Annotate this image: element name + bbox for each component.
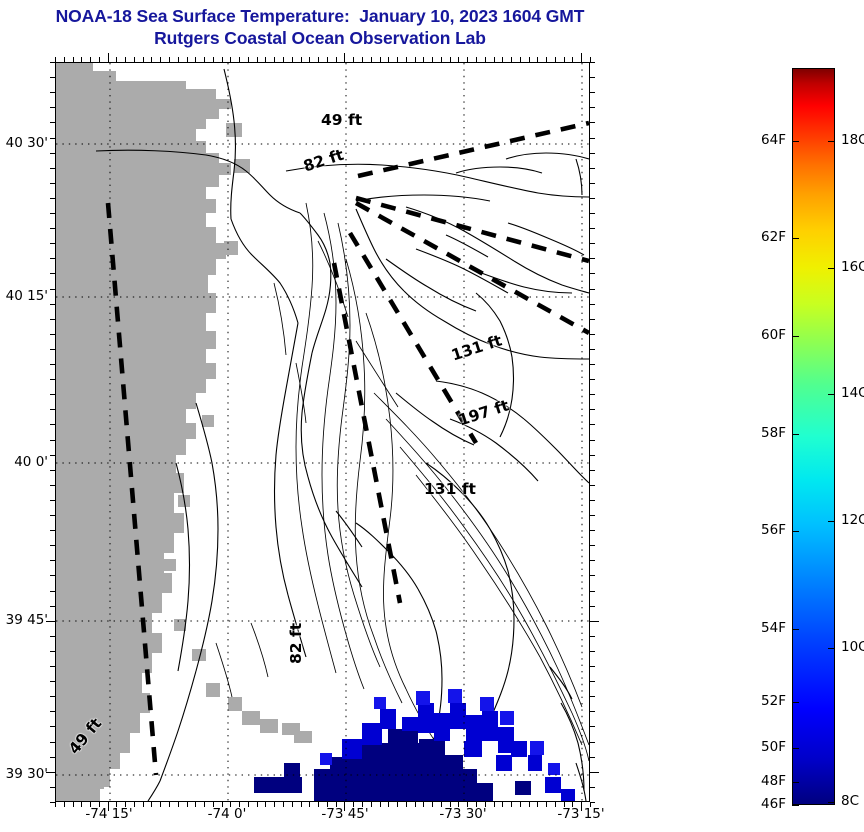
x-tick-bottom-40 xyxy=(406,802,407,807)
y-tick-left-20 xyxy=(50,364,55,365)
x-tick-bottom-31 xyxy=(327,802,328,807)
colorbar-label-c-12: 12C xyxy=(841,512,864,528)
x-tick-bottom-30 xyxy=(318,802,319,807)
y-tick-left-26 xyxy=(50,455,55,456)
x-tick-bottom-53 xyxy=(520,802,521,807)
x-tick-bottom-52 xyxy=(511,802,512,807)
y-tick-right-1 xyxy=(590,77,595,78)
x-tick-top-17 xyxy=(204,57,205,62)
y-tick-right-3 xyxy=(590,107,595,108)
x-tick-bottom-22 xyxy=(248,802,249,807)
colorbar-tick-f-58 xyxy=(792,434,799,435)
colorbar-tick-f-60 xyxy=(792,336,799,337)
x-tick-top-27 xyxy=(292,57,293,62)
y-tick-right-14 xyxy=(590,273,595,274)
title-line-2: Rutgers Coastal Ocean Observation Lab xyxy=(0,27,640,49)
y-tick-right-39 xyxy=(590,651,595,652)
y-tick-left-4 xyxy=(50,122,55,123)
y-tick-left-10 xyxy=(50,213,55,214)
x-tick-top-35 xyxy=(362,57,363,62)
colorbar-tick-f-46 xyxy=(792,805,799,806)
x-tick-bottom-19 xyxy=(222,802,223,807)
y-tick-left-15 xyxy=(50,289,55,290)
y-tick-left-6 xyxy=(50,153,55,154)
colorbar-label-f-50: 50F xyxy=(744,739,786,755)
x-tick-top-34 xyxy=(353,57,354,62)
x-tick-top-28 xyxy=(301,57,302,62)
x-tick-top-46 xyxy=(458,57,459,62)
y-tick-right-22 xyxy=(590,394,595,395)
y-tick-right-24 xyxy=(590,424,595,425)
y-tick-left-33 xyxy=(50,560,55,561)
x-tick-top-7 xyxy=(116,57,117,62)
depth-label-82ft-south: 82 ft xyxy=(287,623,305,664)
colorbar[interactable] xyxy=(792,68,835,805)
colorbar-label-f-62: 62F xyxy=(744,229,786,245)
x-tick-bottom-44 xyxy=(441,802,442,807)
y-tick-left-14 xyxy=(50,273,55,274)
x-tick-label-1: -74 0' xyxy=(196,806,258,822)
x-tick-top-56 xyxy=(546,57,547,62)
x-tick-top-60 xyxy=(581,53,582,62)
x-tick-bottom-36 xyxy=(371,802,372,807)
y-tick-left-46 xyxy=(50,757,55,758)
y-tick-right-38 xyxy=(590,636,595,637)
y-tick-left-3 xyxy=(50,107,55,108)
y-tick-right-44 xyxy=(590,726,595,727)
x-tick-bottom-15 xyxy=(187,802,188,807)
y-tick-left-48 xyxy=(50,787,55,788)
y-tick-right-20 xyxy=(590,364,595,365)
x-tick-top-0 xyxy=(55,57,56,62)
x-tick-top-29 xyxy=(309,57,310,62)
y-tick-right-43 xyxy=(590,711,595,712)
y-tick-left-35 xyxy=(50,591,55,592)
x-tick-bottom-7 xyxy=(116,802,117,807)
x-tick-top-26 xyxy=(283,57,284,62)
x-tick-bottom-8 xyxy=(125,802,126,807)
y-tick-right-41 xyxy=(590,681,595,682)
x-tick-bottom-46 xyxy=(458,802,459,807)
x-tick-bottom-59 xyxy=(572,802,573,807)
colorbar-label-f-54: 54F xyxy=(744,620,786,636)
y-tick-right-42 xyxy=(590,696,595,697)
y-tick-left-11 xyxy=(50,228,55,229)
x-tick-bottom-10 xyxy=(143,802,144,807)
title-line-1: NOAA-18 Sea Surface Temperature: January… xyxy=(0,5,640,27)
y-tick-left-16 xyxy=(50,304,55,305)
colorbar-tick-f-62 xyxy=(792,238,799,239)
y-tick-left-23 xyxy=(50,409,55,410)
x-tick-top-38 xyxy=(388,57,389,62)
y-tick-right-47 xyxy=(590,772,599,773)
x-tick-bottom-57 xyxy=(555,802,556,807)
sst-map-panel[interactable]: 49 ft 82 ft 131 ft 197 ft 131 ft 82 ft 4… xyxy=(55,62,590,802)
y-tick-left-2 xyxy=(50,92,55,93)
x-tick-top-54 xyxy=(529,57,530,62)
x-tick-top-4 xyxy=(90,57,91,62)
y-tick-left-5 xyxy=(50,138,55,139)
colorbar-label-c-14: 14C xyxy=(841,385,864,401)
y-tick-left-34 xyxy=(50,575,55,576)
y-tick-right-13 xyxy=(590,258,595,259)
y-tick-left-29 xyxy=(50,500,55,501)
y-tick-left-24 xyxy=(50,424,55,425)
colorbar-label-c-16: 16C xyxy=(841,259,864,275)
y-tick-left-49 xyxy=(50,802,55,803)
x-tick-top-41 xyxy=(415,57,416,62)
x-tick-top-25 xyxy=(274,57,275,62)
x-tick-bottom-14 xyxy=(178,802,179,807)
x-tick-top-14 xyxy=(178,57,179,62)
y-tick-left-1 xyxy=(50,77,55,78)
x-tick-top-51 xyxy=(502,57,503,62)
colorbar-label-f-48: 48F xyxy=(744,773,786,789)
x-tick-bottom-48 xyxy=(476,802,477,807)
depth-label-49ft-north: 49 ft xyxy=(321,111,362,129)
x-tick-bottom-23 xyxy=(257,802,258,807)
colorbar-tick-c-12 xyxy=(828,521,835,522)
colorbar-label-f-52: 52F xyxy=(744,693,786,709)
y-tick-right-48 xyxy=(590,787,595,788)
x-tick-bottom-41 xyxy=(415,802,416,807)
y-tick-right-15 xyxy=(590,289,595,290)
x-tick-top-48 xyxy=(476,57,477,62)
x-tick-bottom-43 xyxy=(432,802,433,807)
x-tick-top-57 xyxy=(555,57,556,62)
y-tick-left-43 xyxy=(50,711,55,712)
y-tick-left-18 xyxy=(50,334,55,335)
colorbar-tick-f-52 xyxy=(792,702,799,703)
x-tick-bottom-11 xyxy=(151,802,152,807)
x-tick-bottom-39 xyxy=(397,802,398,807)
y-tick-label-1: 40 15' xyxy=(0,288,48,304)
x-tick-bottom-24 xyxy=(265,802,266,807)
x-tick-top-39 xyxy=(397,57,398,62)
x-tick-bottom-50 xyxy=(494,802,495,807)
y-tick-label-2: 40 0' xyxy=(0,454,48,470)
colorbar-label-f-60: 60F xyxy=(744,327,786,343)
x-tick-bottom-0 xyxy=(55,802,56,807)
x-tick-top-36 xyxy=(371,57,372,62)
y-tick-right-6 xyxy=(590,153,595,154)
x-tick-bottom-25 xyxy=(274,802,275,807)
x-tick-top-16 xyxy=(195,57,196,62)
x-tick-bottom-5 xyxy=(99,802,100,807)
x-tick-bottom-45 xyxy=(450,802,451,807)
y-tick-right-21 xyxy=(590,379,595,380)
y-tick-right-27 xyxy=(590,470,595,471)
y-tick-right-12 xyxy=(590,243,595,244)
x-tick-top-11 xyxy=(151,57,152,62)
x-tick-top-15 xyxy=(187,57,188,62)
x-tick-top-44 xyxy=(441,57,442,62)
land-mask xyxy=(56,63,312,801)
x-tick-top-8 xyxy=(125,57,126,62)
y-tick-right-30 xyxy=(590,515,595,516)
y-tick-left-41 xyxy=(50,681,55,682)
x-tick-bottom-54 xyxy=(529,802,530,807)
y-tick-left-47 xyxy=(46,772,55,773)
x-tick-bottom-33 xyxy=(344,802,345,811)
x-tick-bottom-12 xyxy=(160,802,161,807)
x-tick-bottom-18 xyxy=(213,802,214,807)
x-tick-bottom-28 xyxy=(301,802,302,807)
x-tick-top-9 xyxy=(134,57,135,62)
x-tick-top-13 xyxy=(169,57,170,62)
y-tick-left-21 xyxy=(50,379,55,380)
x-tick-bottom-56 xyxy=(546,802,547,807)
x-tick-bottom-38 xyxy=(388,802,389,807)
colorbar-tick-c-8 xyxy=(828,802,835,803)
y-tick-left-40 xyxy=(50,666,55,667)
y-tick-left-38 xyxy=(50,636,55,637)
y-tick-right-31 xyxy=(590,530,595,531)
y-tick-right-37 xyxy=(590,621,599,622)
chart-title-block: NOAA-18 Sea Surface Temperature: January… xyxy=(0,5,640,49)
x-tick-top-45 xyxy=(450,57,451,62)
y-tick-left-0 xyxy=(50,62,55,63)
y-tick-right-18 xyxy=(590,334,595,335)
x-tick-top-3 xyxy=(81,57,82,62)
colorbar-tick-c-18 xyxy=(828,141,835,142)
y-tick-right-8 xyxy=(590,183,595,184)
colorbar-label-f-56: 56F xyxy=(744,522,786,538)
x-tick-bottom-27 xyxy=(292,802,293,807)
colorbar-tick-f-48 xyxy=(792,782,799,783)
x-tick-top-32 xyxy=(336,57,337,62)
x-tick-bottom-34 xyxy=(353,802,354,807)
x-tick-top-31 xyxy=(327,57,328,62)
x-tick-top-30 xyxy=(318,57,319,62)
x-tick-top-42 xyxy=(423,57,424,62)
colorbar-gradient xyxy=(792,68,835,805)
x-tick-top-19 xyxy=(222,57,223,62)
y-tick-right-10 xyxy=(590,213,595,214)
y-tick-right-16 xyxy=(590,304,595,305)
colorbar-label-f-46: 46F xyxy=(744,796,786,812)
x-tick-bottom-37 xyxy=(380,802,381,807)
x-tick-top-59 xyxy=(572,57,573,62)
x-tick-top-24 xyxy=(265,57,266,62)
colorbar-label-c-8: 8C xyxy=(841,793,859,809)
map-clip xyxy=(56,63,589,801)
y-tick-right-4 xyxy=(590,122,595,123)
x-tick-top-1 xyxy=(64,57,65,62)
x-tick-bottom-3 xyxy=(81,802,82,807)
y-tick-left-27 xyxy=(50,470,55,471)
y-tick-label-0: 40 30' xyxy=(0,135,48,151)
colorbar-tick-c-16 xyxy=(828,268,835,269)
colorbar-label-f-58: 58F xyxy=(744,425,786,441)
colorbar-label-c-18: 18C xyxy=(841,132,864,148)
x-tick-top-50 xyxy=(494,57,495,62)
y-tick-left-17 xyxy=(50,319,55,320)
y-tick-left-22 xyxy=(50,394,55,395)
x-tick-top-2 xyxy=(73,57,74,62)
x-tick-top-5 xyxy=(99,57,100,62)
y-tick-left-13 xyxy=(50,258,55,259)
y-tick-right-26 xyxy=(590,455,595,456)
y-tick-right-40 xyxy=(590,666,595,667)
y-tick-left-32 xyxy=(50,545,55,546)
y-tick-left-12 xyxy=(50,243,55,244)
x-tick-bottom-16 xyxy=(195,802,196,807)
x-tick-bottom-13 xyxy=(169,802,170,807)
x-tick-bottom-6 xyxy=(108,802,109,811)
colorbar-label-f-64: 64F xyxy=(744,132,786,148)
x-tick-bottom-26 xyxy=(283,802,284,807)
y-tick-left-37 xyxy=(46,621,55,622)
x-tick-top-12 xyxy=(160,57,161,62)
y-tick-right-23 xyxy=(590,409,595,410)
x-tick-label-0: -74 15' xyxy=(74,806,144,822)
y-tick-right-45 xyxy=(590,742,595,743)
x-tick-bottom-60 xyxy=(581,802,582,811)
x-tick-bottom-29 xyxy=(309,802,310,807)
x-tick-top-52 xyxy=(511,57,512,62)
x-tick-bottom-47 xyxy=(467,802,468,807)
y-tick-left-30 xyxy=(50,515,55,516)
y-tick-label-3: 39 45' xyxy=(0,612,48,628)
x-tick-top-6 xyxy=(108,53,109,62)
y-tick-right-5 xyxy=(590,138,595,139)
y-tick-right-49 xyxy=(590,802,595,803)
y-tick-left-42 xyxy=(50,696,55,697)
depth-label-131ft-lower: 131 ft xyxy=(424,480,476,498)
y-tick-right-32 xyxy=(590,545,595,546)
x-tick-bottom-49 xyxy=(485,802,486,807)
colorbar-tick-f-56 xyxy=(792,531,799,532)
x-tick-bottom-42 xyxy=(423,802,424,807)
x-tick-top-49 xyxy=(485,57,486,62)
bathymetry-contours xyxy=(216,203,589,761)
y-tick-right-29 xyxy=(590,500,595,501)
y-tick-right-9 xyxy=(590,198,595,199)
x-tick-top-20 xyxy=(230,57,231,62)
x-tick-label-3: -73 30' xyxy=(428,806,498,822)
y-tick-right-36 xyxy=(590,606,595,607)
colorbar-tick-c-10 xyxy=(828,648,835,649)
y-tick-right-17 xyxy=(590,319,595,320)
x-tick-bottom-17 xyxy=(204,802,205,807)
y-tick-right-46 xyxy=(590,757,595,758)
y-tick-right-33 xyxy=(590,560,595,561)
colorbar-tick-f-54 xyxy=(792,629,799,630)
x-tick-top-23 xyxy=(257,57,258,62)
x-tick-top-10 xyxy=(143,57,144,62)
x-tick-bottom-9 xyxy=(134,802,135,807)
y-tick-left-36 xyxy=(50,606,55,607)
x-tick-bottom-1 xyxy=(64,802,65,807)
y-tick-right-34 xyxy=(590,575,595,576)
x-tick-top-33 xyxy=(344,53,345,62)
y-tick-right-35 xyxy=(590,591,595,592)
colorbar-tick-f-64 xyxy=(792,141,799,142)
x-tick-top-55 xyxy=(537,57,538,62)
y-tick-right-0 xyxy=(590,62,595,63)
x-tick-top-43 xyxy=(432,57,433,62)
x-tick-bottom-58 xyxy=(564,802,565,807)
x-tick-top-53 xyxy=(520,57,521,62)
colorbar-label-c-10: 10C xyxy=(841,639,864,655)
x-tick-top-18 xyxy=(213,57,214,62)
y-tick-left-7 xyxy=(50,168,55,169)
y-tick-left-39 xyxy=(50,651,55,652)
y-tick-left-9 xyxy=(50,198,55,199)
y-tick-left-19 xyxy=(50,349,55,350)
y-tick-left-45 xyxy=(50,742,55,743)
y-tick-left-8 xyxy=(50,183,55,184)
x-tick-bottom-55 xyxy=(537,802,538,807)
x-tick-bottom-35 xyxy=(362,802,363,807)
x-tick-top-22 xyxy=(248,57,249,62)
y-tick-left-31 xyxy=(50,530,55,531)
y-tick-left-25 xyxy=(50,440,55,441)
x-tick-top-40 xyxy=(406,57,407,62)
x-tick-bottom-32 xyxy=(336,802,337,807)
map-graphics xyxy=(56,63,589,801)
y-tick-right-7 xyxy=(590,168,595,169)
x-tick-bottom-20 xyxy=(230,802,231,807)
y-tick-right-25 xyxy=(590,440,595,441)
x-tick-bottom-4 xyxy=(90,802,91,807)
x-tick-top-47 xyxy=(467,57,468,62)
colorbar-tick-f-50 xyxy=(792,748,799,749)
x-tick-bottom-51 xyxy=(502,802,503,807)
x-tick-bottom-2 xyxy=(73,802,74,807)
y-tick-label-4: 39 30' xyxy=(0,766,48,782)
x-tick-top-58 xyxy=(564,57,565,62)
x-tick-top-21 xyxy=(239,57,240,62)
y-tick-right-28 xyxy=(590,485,595,486)
y-tick-right-19 xyxy=(590,349,595,350)
y-tick-right-11 xyxy=(590,228,595,229)
y-tick-left-28 xyxy=(50,485,55,486)
y-tick-right-2 xyxy=(590,92,595,93)
x-tick-top-37 xyxy=(380,57,381,62)
y-tick-left-44 xyxy=(50,726,55,727)
colorbar-tick-c-14 xyxy=(828,394,835,395)
x-tick-bottom-21 xyxy=(239,802,240,807)
